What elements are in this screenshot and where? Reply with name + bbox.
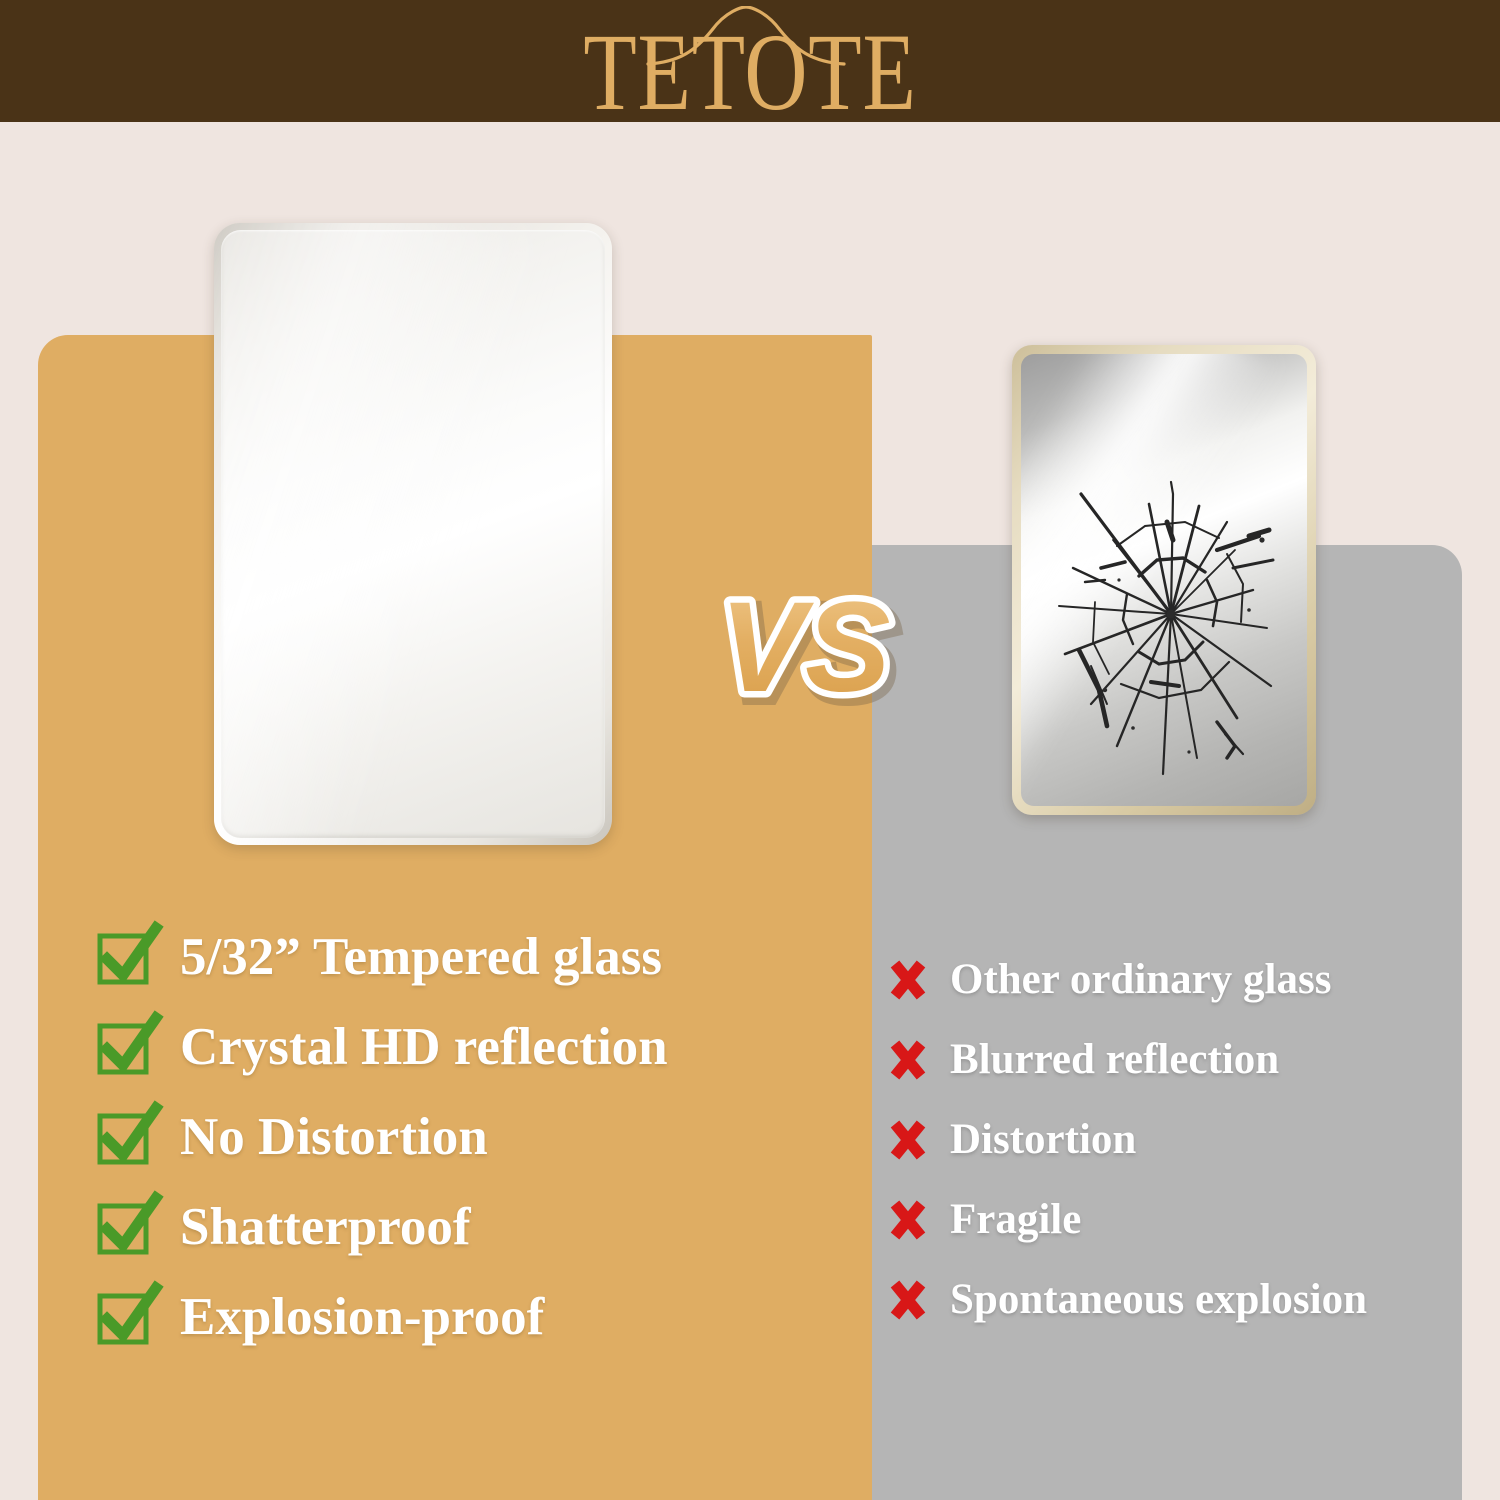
check-box-icon	[96, 1286, 158, 1348]
shatter-pattern-icon	[1021, 354, 1307, 806]
good-feature-list: 5/32” Tempered glass Crystal HD reflecti…	[96, 912, 836, 1362]
list-item-label: Fragile	[950, 1196, 1081, 1244]
list-item-label: No Distortion	[180, 1108, 488, 1166]
list-item: 5/32” Tempered glass	[96, 912, 836, 1002]
intact-mirror-image	[214, 223, 612, 845]
infographic-stage: TETOTE	[0, 0, 1500, 1500]
check-box-icon	[96, 926, 158, 988]
cross-mark-icon	[888, 1118, 928, 1162]
cross-mark-icon	[888, 958, 928, 1002]
list-item-label: Spontaneous explosion	[950, 1276, 1367, 1324]
list-item: No Distortion	[96, 1092, 836, 1182]
list-item-label: Other ordinary glass	[950, 956, 1331, 1004]
versus-badge: VS VS VS	[690, 575, 920, 715]
list-item: Spontaneous explosion	[888, 1260, 1468, 1340]
list-item-label: 5/32” Tempered glass	[180, 928, 662, 986]
cracked-mirror-glass	[1021, 354, 1307, 806]
list-item-label: Blurred reflection	[950, 1036, 1279, 1084]
list-item: Explosion-proof	[96, 1272, 836, 1362]
brand-logo: TETOTE	[550, 0, 950, 122]
intact-mirror-glass	[221, 230, 605, 838]
check-box-icon	[96, 1106, 158, 1168]
versus-label: VS	[720, 576, 891, 719]
list-item: Shatterproof	[96, 1182, 836, 1272]
check-box-icon	[96, 1196, 158, 1258]
cracked-mirror-image	[1012, 345, 1316, 815]
list-item-label: Crystal HD reflection	[180, 1018, 668, 1076]
cross-mark-icon	[888, 1198, 928, 1242]
bad-feature-list: Other ordinary glass Blurred reflection …	[888, 940, 1468, 1340]
list-item: Distortion	[888, 1100, 1468, 1180]
list-item: Crystal HD reflection	[96, 1002, 836, 1092]
list-item: Fragile	[888, 1180, 1468, 1260]
list-item-label: Distortion	[950, 1116, 1136, 1164]
list-item: Blurred reflection	[888, 1020, 1468, 1100]
cross-mark-icon	[888, 1038, 928, 1082]
check-box-icon	[96, 1016, 158, 1078]
list-item: Other ordinary glass	[888, 940, 1468, 1020]
brand-header-bar: TETOTE	[0, 0, 1500, 122]
list-item-label: Shatterproof	[180, 1198, 471, 1256]
cross-mark-icon	[888, 1278, 928, 1322]
list-item-label: Explosion-proof	[180, 1288, 544, 1346]
brand-wordmark: TETOTE	[582, 22, 918, 122]
mirror-sheen	[214, 223, 546, 845]
